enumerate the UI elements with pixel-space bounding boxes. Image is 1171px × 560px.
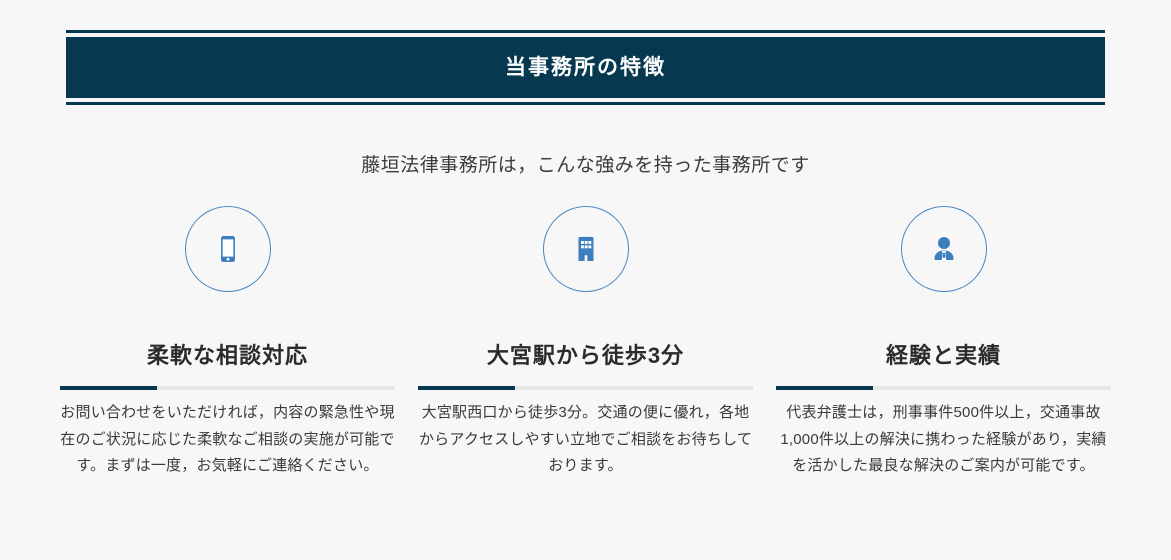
- feature-body-1: お問い合わせをいただければ，内容の緊急性や現在のご状況に応じた柔軟なご相談の実施…: [60, 400, 395, 479]
- banner-bar: 当事務所の特徴: [66, 37, 1105, 98]
- feature-list: 柔軟な相談対応 お問い合わせをいただければ，内容の緊急性や現在のご状況に応じた柔…: [60, 206, 1111, 479]
- feature-card-3: 経験と実績 代表弁護士は，刑事事件500件以上，交通事故1,000件以上の解決に…: [776, 206, 1111, 479]
- feature-body-3: 代表弁護士は，刑事事件500件以上，交通事故1,000件以上の解決に携わった経験…: [776, 400, 1111, 479]
- feature-title-2: 大宮駅から徒歩3分: [487, 343, 684, 369]
- smartphone-icon: [211, 232, 245, 266]
- feature-divider-1: [60, 386, 395, 390]
- feature-card-2: 大宮駅から徒歩3分 大宮駅西口から徒歩3分。交通の便に優れ，各地からアクセスしや…: [418, 206, 753, 479]
- banner-top-rule: [66, 30, 1105, 33]
- icon-badge-1: [185, 206, 271, 292]
- section-subtitle: 藤垣法律事務所は，こんな強みを持った事務所です: [0, 153, 1171, 180]
- icon-badge-3: [901, 206, 987, 292]
- feature-divider-3: [776, 386, 1111, 390]
- feature-card-1: 柔軟な相談対応 お問い合わせをいただければ，内容の緊急性や現在のご状況に応じた柔…: [60, 206, 395, 479]
- feature-divider-2: [418, 386, 753, 390]
- businessperson-icon: [927, 232, 961, 266]
- section-banner: 当事務所の特徴: [66, 30, 1105, 105]
- section-title: 当事務所の特徴: [505, 57, 666, 78]
- banner-bottom-rule: [66, 102, 1105, 105]
- feature-title-3: 経験と実績: [886, 343, 1001, 369]
- building-icon: [569, 232, 603, 266]
- feature-title-1: 柔軟な相談対応: [147, 343, 308, 369]
- feature-body-2: 大宮駅西口から徒歩3分。交通の便に優れ，各地からアクセスしやすい立地でご相談をお…: [418, 400, 753, 479]
- icon-badge-2: [543, 206, 629, 292]
- features-section: 当事務所の特徴 藤垣法律事務所は，こんな強みを持った事務所です 柔軟な相談対応 …: [0, 0, 1171, 560]
